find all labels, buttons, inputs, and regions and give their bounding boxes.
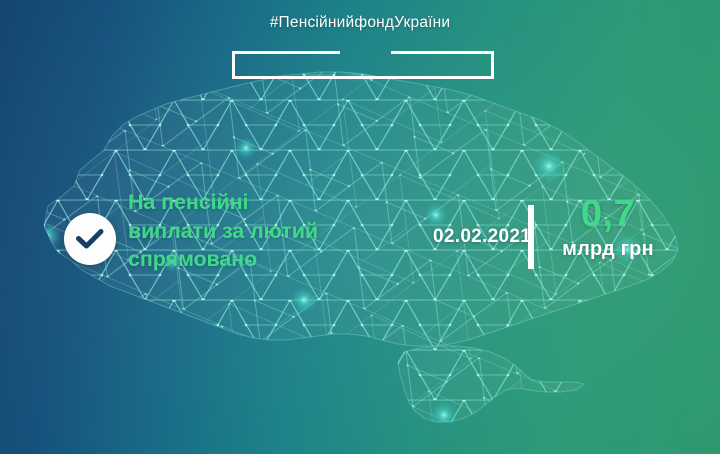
check-circle-icon — [64, 213, 116, 265]
frame-top-right-segment — [391, 51, 494, 54]
stat-value-unit: млрд грн — [548, 237, 668, 262]
stat-date: 02.02.2021 — [433, 226, 531, 248]
frame-top-left-segment — [232, 51, 340, 54]
headline-text: На пенсійні виплати за лютий спрямовано — [128, 188, 378, 274]
stat-value-block: 0,7 млрд грн — [548, 196, 668, 262]
frame-left-edge — [232, 51, 235, 79]
vertical-divider — [528, 205, 534, 269]
stat-value-number: 0,7 — [548, 196, 668, 233]
headline-line-2: виплати за лютий — [128, 217, 378, 246]
logo-placeholder-frame — [232, 51, 494, 79]
hashtag-label: #ПенсійнийфондУкраїни — [0, 14, 720, 32]
frame-bottom-edge — [232, 76, 494, 79]
headline-line-1: На пенсійні — [128, 188, 378, 217]
headline-line-3: спрямовано — [128, 245, 378, 274]
infographic-canvas: #ПенсійнийфондУкраїни На пенсійні виплат… — [0, 0, 720, 454]
frame-right-edge — [491, 51, 494, 79]
